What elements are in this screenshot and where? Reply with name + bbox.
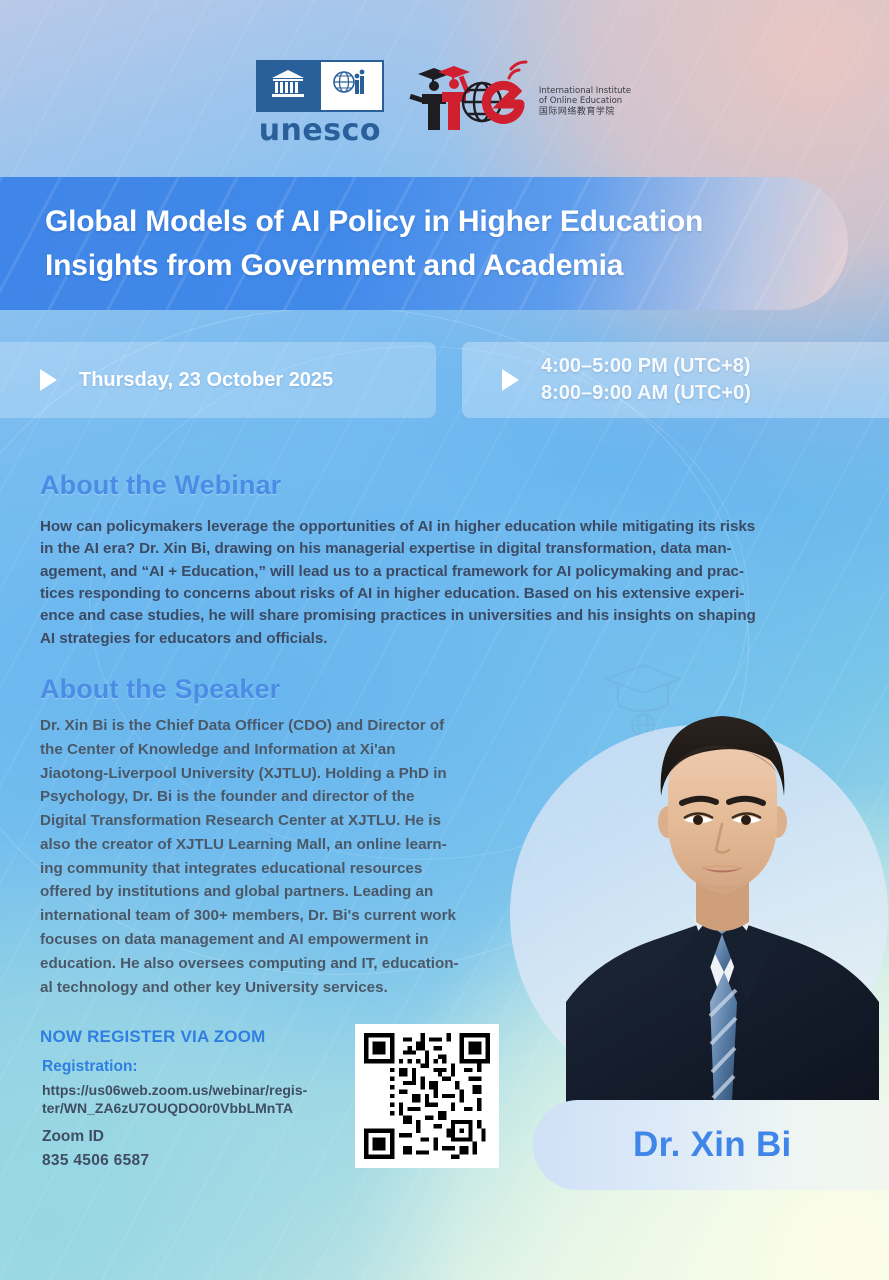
speaker-photo xyxy=(556,672,889,1102)
unesco-wordmark: unesco xyxy=(259,116,381,146)
speaker-line: al technology and other key University s… xyxy=(40,976,510,1000)
iioe-wordmark: International Institute of Online Educat… xyxy=(539,87,631,117)
about-speaker-body: Dr. Xin Bi is the Chief Data Officer (CD… xyxy=(40,714,510,999)
speaker-line: Dr. Xin Bi is the Chief Data Officer (CD… xyxy=(40,714,510,738)
webinar-poster: unesco xyxy=(0,0,889,1280)
speaker-line: ing community that integrates educationa… xyxy=(40,857,510,881)
unesco-temple-box xyxy=(258,62,319,110)
about-speaker-heading: About the Speaker xyxy=(40,674,280,705)
unesco-marks xyxy=(256,60,384,112)
iioe-mark-icon xyxy=(408,60,533,145)
iioe-line-3: 国际网络教育学院 xyxy=(539,107,631,117)
webinar-line: agement, and “AI + Education,” will lead… xyxy=(40,561,825,583)
speaker-line: Digital Transformation Research Center a… xyxy=(40,809,510,833)
registration-qr-code[interactable] xyxy=(355,1024,499,1168)
registration-url-line-1: https://us06web.zoom.us/webinar/regis- xyxy=(42,1081,342,1099)
title-line-1: Global Models of AI Policy in Higher Edu… xyxy=(45,200,848,244)
speaker-line: also the creator of XJTLU Learning Mall,… xyxy=(40,833,510,857)
speaker-line: the Center of Knowledge and Information … xyxy=(40,738,510,762)
logo-row: unesco xyxy=(0,55,889,150)
event-date-text: Thursday, 23 October 2025 xyxy=(79,367,333,394)
about-webinar-body: How can policymakers leverage the opport… xyxy=(40,516,825,650)
speaker-line: focuses on data management and AI empowe… xyxy=(40,928,510,952)
about-webinar-heading: About the Webinar xyxy=(40,470,281,501)
speaker-name-text: Dr. Xin Bi xyxy=(633,1125,792,1165)
webinar-line: ence and case studies, he will share pro… xyxy=(40,605,825,627)
speaker-line: international team of 300+ members, Dr. … xyxy=(40,904,510,928)
webinar-line: in the AI era? Dr. Xin Bi, drawing on hi… xyxy=(40,538,825,560)
globe-people-icon xyxy=(331,68,371,103)
play-triangle-icon xyxy=(502,369,519,391)
qr-code-icon xyxy=(364,1033,490,1159)
registration-url-line-2: ter/WN_ZA6zU7OUQDO0r0VbbLMnTA xyxy=(42,1099,342,1117)
iioe-logo: International Institute of Online Educat… xyxy=(408,60,631,145)
event-time-text: 4:00–5:00 PM (UTC+8) 8:00–9:00 AM (UTC+0… xyxy=(541,353,751,407)
speaker-line: Psychology, Dr. Bi is the founder and di… xyxy=(40,785,510,809)
webinar-line: How can policymakers leverage the opport… xyxy=(40,516,825,538)
unesco-logo: unesco xyxy=(258,60,382,146)
registration-label: Registration: xyxy=(42,1058,138,1076)
event-date-bar: Thursday, 23 October 2025 xyxy=(0,342,436,418)
speaker-name-badge: Dr. Xin Bi xyxy=(533,1100,889,1190)
zoom-id-value: 835 4506 6587 xyxy=(42,1152,149,1170)
title-line-2: Insights from Government and Academia xyxy=(45,244,848,288)
register-callout: NOW REGISTER VIA ZOOM xyxy=(40,1027,266,1047)
iioe-line-2: of Online Education xyxy=(539,97,631,107)
speaker-line: Jiaotong-Liverpool University (XJTLU). H… xyxy=(40,762,510,786)
event-time-line-1: 4:00–5:00 PM (UTC+8) xyxy=(541,355,751,377)
registration-url[interactable]: https://us06web.zoom.us/webinar/regis- t… xyxy=(42,1081,342,1118)
play-triangle-icon xyxy=(40,369,57,391)
webinar-line: AI strategies for educators and official… xyxy=(40,628,825,650)
temple-icon xyxy=(270,68,306,103)
zoom-id-label: Zoom ID xyxy=(42,1128,104,1146)
title-banner: Global Models of AI Policy in Higher Edu… xyxy=(0,177,848,310)
webinar-line: tices responding to concerns about risks… xyxy=(40,583,825,605)
speaker-line: offered by institutions and global partn… xyxy=(40,880,510,904)
speaker-line: education. He also oversees computing an… xyxy=(40,952,510,976)
unesco-globe-box xyxy=(319,62,382,110)
event-meta-row: Thursday, 23 October 2025 4:00–5:00 PM (… xyxy=(0,342,889,418)
event-time-line-2: 8:00–9:00 AM (UTC+0) xyxy=(541,382,751,404)
event-time-bar: 4:00–5:00 PM (UTC+8) 8:00–9:00 AM (UTC+0… xyxy=(462,342,889,418)
